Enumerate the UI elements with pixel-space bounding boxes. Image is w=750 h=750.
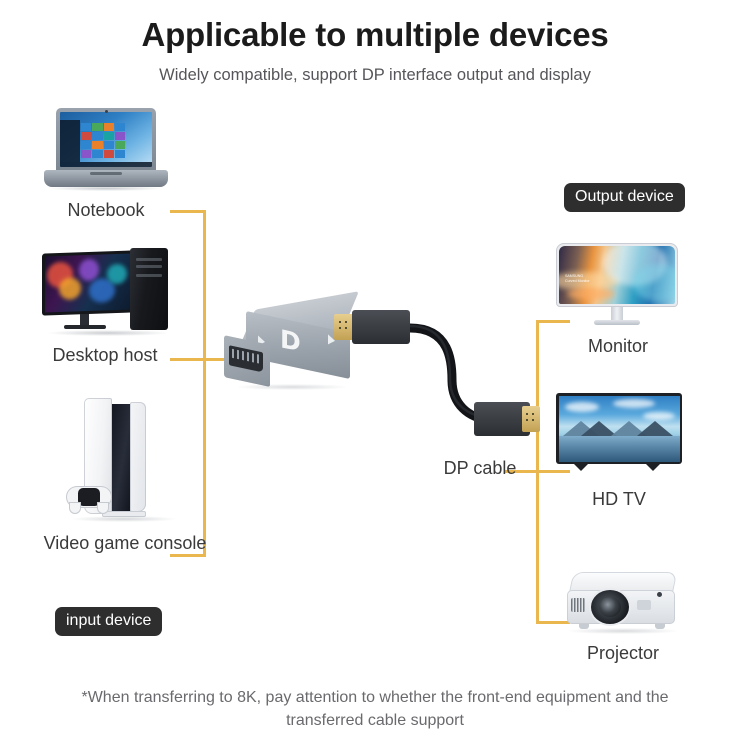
page-title: Applicable to multiple devices (0, 16, 750, 54)
page-subtitle: Widely compatible, support DP interface … (0, 66, 750, 85)
cable-connector-gold-upper (334, 314, 354, 340)
input-device-badge: input device (55, 607, 162, 636)
input-branch-console (170, 554, 206, 557)
adapter-dp-logo: D (280, 326, 300, 355)
desktop-computer-icon (42, 248, 174, 344)
dp-cable-icon (332, 296, 542, 456)
game-console-icon (62, 398, 186, 524)
label-dp-cable: DP cable (400, 458, 560, 479)
projector-icon (563, 568, 683, 642)
label-video-game-console: Video game console (20, 533, 230, 554)
label-hd-tv: HD TV (549, 489, 689, 510)
label-monitor: Monitor (548, 336, 688, 357)
television-icon (556, 393, 682, 477)
cable-connector-gold-lower (522, 406, 540, 432)
input-bracket-spine (203, 210, 206, 557)
label-notebook: Notebook (26, 200, 186, 221)
footnote-line-1: *When transferring to 8K, pay attention … (81, 689, 610, 706)
label-projector: Projector (553, 643, 693, 664)
cable-connector-upper (352, 310, 410, 344)
infographic-page: Applicable to multiple devices Widely co… (0, 0, 750, 750)
curved-monitor-icon: SAMSUNGCurved Monitor (556, 243, 678, 331)
footnote: *When transferring to 8K, pay attention … (55, 686, 695, 732)
output-device-badge: Output device (564, 183, 685, 212)
label-desktop-host: Desktop host (20, 345, 190, 366)
laptop-icon (44, 108, 168, 200)
